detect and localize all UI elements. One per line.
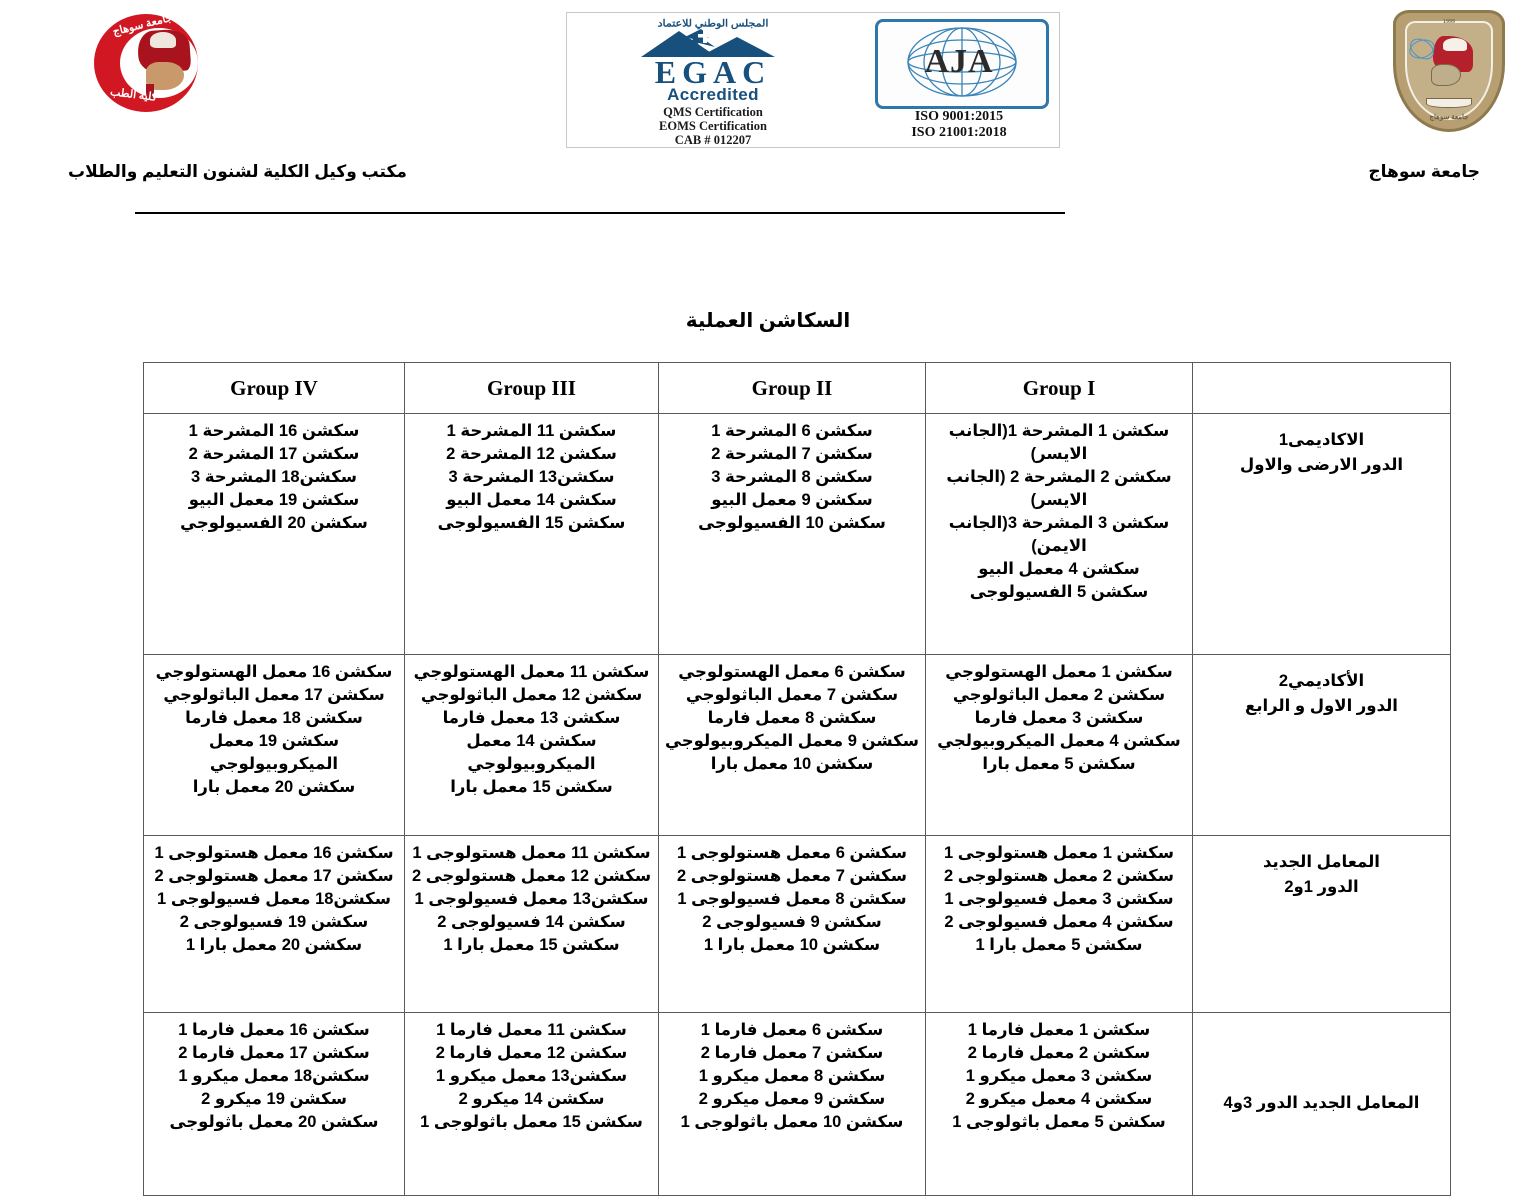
table-row: المعامل الجديد الدور 3و4 سكشن 1 معمل فار… (144, 1013, 1451, 1196)
office-label: مكتب وكيل الكلية لشنون التعليم والطلاب (68, 162, 407, 182)
aja-certification-logo: AJA ISO 9001:2015 ISO 21001:2018 (859, 13, 1059, 147)
emblem-year: 1999 (1393, 19, 1505, 25)
egac-certification-lines: QMS Certification EOMS Certification CAB… (567, 105, 859, 147)
certification-logos-block: المجلس الوطني للاعتماد EGAC Accredited Q… (566, 12, 1060, 148)
aja-wordmark: AJA (859, 43, 1059, 81)
cell-group4-row2: سكشن 16 معمل الهستولوجي سكشن 17 معمل الب… (144, 655, 405, 836)
row-label-academic-1: الاكاديمى1 الدور الارضى والاول (1193, 414, 1451, 655)
cell-group3-row2: سكشن 11 معمل الهستولوجي سكشن 12 معمل الب… (405, 655, 659, 836)
emblem-pharaoh-icon (1429, 36, 1473, 92)
page-title: السكاشن العملية (0, 308, 1536, 333)
iso-21001-label: ISO 21001:2018 (859, 125, 1059, 141)
egac-line-cab: CAB # 012207 (567, 133, 859, 147)
table-row: المعامل الجديد الدور 1و2 سكشن 1 معمل هست… (144, 836, 1451, 1013)
book-icon (1426, 98, 1472, 108)
column-header-group-1: Group I (926, 363, 1193, 414)
column-header-group-3: Group III (405, 363, 659, 414)
cell-group1-row2: سكشن 1 معمل الهستولوجي سكشن 2 معمل الباث… (926, 655, 1193, 836)
header-divider (135, 212, 1065, 214)
emblem-caption: جامعة سوهاج (1393, 113, 1505, 121)
row-label-new-labs-1-2: المعامل الجديد الدور 1و2 (1193, 836, 1451, 1013)
cell-group2-row2: سكشن 6 معمل الهستولوجي سكشن 7 معمل الباث… (659, 655, 926, 836)
cell-group3-row3: سكشن 11 معمل هستولوجى 1 سكشن 12 معمل هست… (405, 836, 659, 1013)
egac-accreditation-logo: المجلس الوطني للاعتماد EGAC Accredited Q… (567, 13, 859, 147)
aja-iso-lines: ISO 9001:2015 ISO 21001:2018 (859, 109, 1059, 141)
table-header-row: Group I Group II Group III Group IV (144, 363, 1451, 414)
egac-mountain-icon (641, 27, 785, 57)
faculty-of-medicine-logo: جامعة سوهاج كلية الطب (84, 8, 224, 118)
egac-wordmark: EGAC (567, 57, 859, 87)
cell-group4-row4: سكشن 16 معمل فارما 1 سكشن 17 معمل فارما … (144, 1013, 405, 1196)
egac-line-qms: QMS Certification (567, 105, 859, 119)
cell-group3-row4: سكشن 11 معمل فارما 1 سكشن 12 معمل فارما … (405, 1013, 659, 1196)
cell-group3-row1: سكشن 11 المشرحة 1 سكشن 12 المشرحة 2 سكشن… (405, 414, 659, 655)
egac-accredited-label: Accredited (567, 85, 859, 105)
university-label: جامعة سوهاج (1368, 162, 1480, 182)
cell-group4-row1: سكشن 16 المشرحة 1 سكشن 17 المشرحة 2 سكشن… (144, 414, 405, 655)
table-row: الأكاديمي2 الدور الاول و الرابع سكشن 1 م… (144, 655, 1451, 836)
cell-group2-row3: سكشن 6 معمل هستولوجى 1 سكشن 7 معمل هستول… (659, 836, 926, 1013)
cell-group2-row1: سكشن 6 المشرحة 1 سكشن 7 المشرحة 2 سكشن 8… (659, 414, 926, 655)
document-header: جامعة سوهاج كلية الطب المجلس الوطني للاع… (0, 0, 1536, 210)
row-label-academic-2: الأكاديمي2 الدور الاول و الرابع (1193, 655, 1451, 836)
column-header-blank (1193, 363, 1451, 414)
sohag-university-emblem: 1999 جامعة سوهاج (1393, 10, 1505, 132)
column-header-group-2: Group II (659, 363, 926, 414)
column-header-group-4: Group IV (144, 363, 405, 414)
cell-group1-row4: سكشن 1 معمل فارما 1 سكشن 2 معمل فارما 2 … (926, 1013, 1193, 1196)
table-row: الاكاديمى1 الدور الارضى والاول سكشن 1 ال… (144, 414, 1451, 655)
row-label-new-labs-3-4: المعامل الجديد الدور 3و4 (1193, 1013, 1451, 1196)
cell-group2-row4: سكشن 6 معمل فارما 1 سكشن 7 معمل فارما 2 … (659, 1013, 926, 1196)
practical-sections-table: Group I Group II Group III Group IV الاك… (143, 362, 1451, 1196)
cell-group1-row3: سكشن 1 معمل هستولوجى 1 سكشن 2 معمل هستول… (926, 836, 1193, 1013)
cell-group1-row1: سكشن 1 المشرحة 1(الجانب الايسر) سكشن 2 ا… (926, 414, 1193, 655)
cell-group4-row3: سكشن 16 معمل هستولوجى 1 سكشن 17 معمل هست… (144, 836, 405, 1013)
iso-9001-label: ISO 9001:2015 (859, 109, 1059, 125)
egac-line-eoms: EOMS Certification (567, 119, 859, 133)
